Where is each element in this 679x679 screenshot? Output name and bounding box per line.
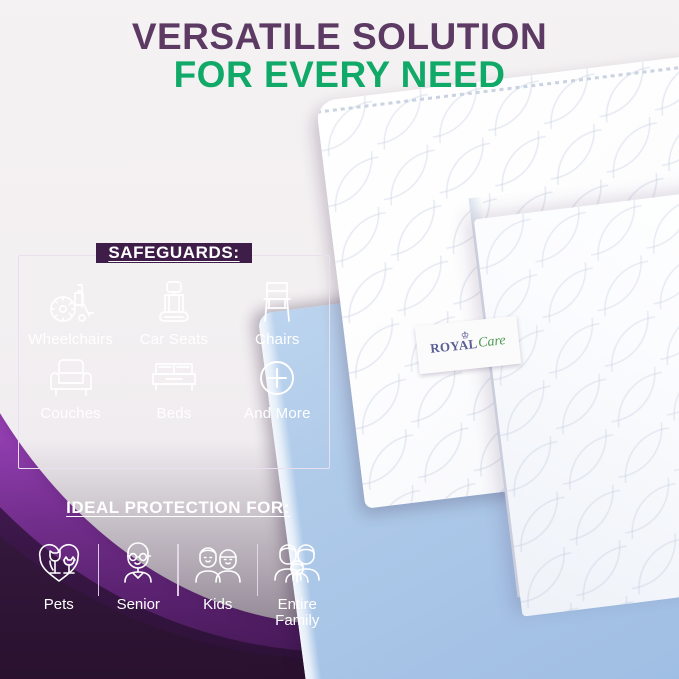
kids-icon: [193, 540, 243, 591]
safeguards-item-and-more: And More: [226, 356, 329, 422]
safeguards-item-wheelchairs: Wheelchairs: [19, 278, 122, 348]
car-seat-icon: [152, 278, 196, 326]
safeguards-title: SAFEGUARDS:: [96, 243, 251, 263]
safeguards-panel: SAFEGUARDS: Wheelchairs: [18, 255, 330, 469]
safeguards-title-wrap: SAFEGUARDS:: [19, 243, 329, 263]
crown-icon: ♔: [460, 330, 469, 342]
ideal-item-label: Pets: [44, 597, 74, 613]
safeguards-item-car-seats: Car Seats: [122, 278, 225, 348]
ideal-protection-section: IDEAL PROTECTION FOR:: [18, 498, 338, 629]
plus-circle-icon: [255, 356, 299, 400]
headline-line-1: VERSATILE SOLUTION: [0, 18, 679, 56]
wheelchair-icon: [45, 278, 97, 326]
ideal-item-pets: Pets: [20, 540, 98, 613]
safeguards-label: Chairs: [255, 331, 300, 348]
safeguards-item-chairs: Chairs: [226, 278, 329, 348]
senior-icon: [116, 540, 160, 591]
ideal-item-label: Kids: [203, 597, 232, 613]
brand-name-royal: ROYAL ♔: [429, 336, 478, 357]
ideal-item-label: Senior: [117, 597, 160, 613]
family-icon: [271, 540, 323, 591]
ideal-divider: [257, 544, 259, 596]
ideal-protection-title: IDEAL PROTECTION FOR:: [18, 498, 338, 518]
safeguards-grid: Wheelchairs Car Seats: [19, 278, 329, 422]
bed-icon: [148, 356, 200, 400]
safeguards-label: And More: [244, 405, 311, 422]
safeguards-item-couches: Couches: [19, 356, 122, 422]
safeguards-label: Wheelchairs: [28, 331, 113, 348]
safeguards-label: Beds: [156, 405, 191, 422]
ideal-divider: [177, 544, 179, 596]
safeguards-label: Couches: [40, 405, 101, 422]
ideal-item-kids: Kids: [179, 540, 257, 613]
pets-heart-icon: [36, 540, 82, 591]
chair-icon: [255, 278, 299, 326]
safeguards-item-beds: Beds: [122, 356, 225, 422]
infographic-canvas: ROYAL ♔ Care VERSATILE SOLUTION FOR EVER…: [0, 0, 679, 679]
ideal-divider: [98, 544, 100, 596]
brand-name-care: Care: [477, 333, 506, 352]
ideal-item-entire-family: Entire Family: [258, 540, 336, 629]
ideal-item-label: Entire Family: [258, 597, 336, 629]
headline-block: VERSATILE SOLUTION FOR EVERY NEED: [0, 18, 679, 95]
ideal-protection-row: Pets Senior: [18, 540, 338, 629]
safeguards-label: Car Seats: [140, 331, 209, 348]
headline-line-2: FOR EVERY NEED: [0, 56, 679, 94]
couch-icon: [47, 356, 95, 400]
ideal-item-senior: Senior: [99, 540, 177, 613]
